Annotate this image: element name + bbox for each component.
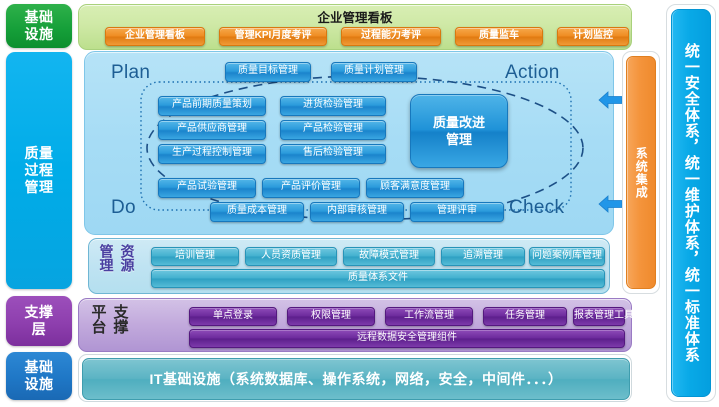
it-infrastructure-bar[interactable]: IT基础设施（系统数据库、操作系统，网络，安全，中间件．．．） xyxy=(82,358,630,400)
unified-systems-label: 统一安全体系，统一维护体系，统一标准体系 xyxy=(683,43,699,363)
unified-systems-bar[interactable]: 统一安全体系，统一维护体系，统一标准体系 xyxy=(671,9,711,397)
pdca-button-11[interactable]: 顾客满意度管理 xyxy=(366,178,464,198)
integration-arrow-bottom-icon xyxy=(597,194,623,214)
pdca-button-4[interactable]: 产品供应商管理 xyxy=(158,120,266,140)
sidebar-item-support-layer[interactable]: 支撑 层 xyxy=(6,296,72,346)
sidebar-label-line2: 设施 xyxy=(25,26,54,43)
support-label-col2: 平台 xyxy=(88,304,109,346)
board-button-3[interactable]: 过程能力考评 xyxy=(341,27,441,46)
pdca-button-2[interactable]: 质量计划管理 xyxy=(331,62,417,82)
pdca-button-7[interactable]: 产品检验管理 xyxy=(280,120,386,140)
support-platform-label: 支撑 平台 xyxy=(86,304,132,346)
board-button-1[interactable]: 企业管理看板 xyxy=(105,27,205,46)
pdca-label-check: Check xyxy=(509,197,564,219)
resource-button-3[interactable]: 故障模式管理 xyxy=(343,247,435,266)
sidebar-label-line1: 支撑 xyxy=(25,304,54,321)
quality-improvement-button[interactable]: 质量改进 管理 xyxy=(410,94,508,168)
system-integration-bar[interactable]: 系统集成 xyxy=(626,56,656,289)
support-button-5[interactable]: 报表管理工具 xyxy=(573,307,625,326)
board-button-2[interactable]: 管理KPI月度考评 xyxy=(219,27,327,46)
architecture-diagram: 基础 设施 质量 过程 管理 支撑 层 基础 设施 企业管理看板 企业管理看板管… xyxy=(0,0,719,407)
pdca-button-1[interactable]: 质量目标管理 xyxy=(225,62,311,82)
board-button-4[interactable]: 质量监车 xyxy=(455,27,543,46)
resource-management-panel: 资源 管理 培训管理人员资质管理故障模式管理追溯管理问题案例库管理质量体系文件 xyxy=(88,238,610,294)
pdca-button-8[interactable]: 售后检验管理 xyxy=(280,144,386,164)
pdca-button-5[interactable]: 生产过程控制管理 xyxy=(158,144,266,164)
pdca-button-14[interactable]: 管理评审 xyxy=(410,202,504,222)
resource-label-col2: 管理 xyxy=(97,244,117,286)
pdca-button-10[interactable]: 产品评价管理 xyxy=(262,178,360,198)
pdca-button-13[interactable]: 内部审核管理 xyxy=(310,202,404,222)
support-button-3[interactable]: 工作流管理 xyxy=(385,307,473,326)
sidebar-label-line2: 层 xyxy=(25,321,54,338)
pdca-button-9[interactable]: 产品试验管理 xyxy=(158,178,256,198)
support-platform-panel: 支撑 平台 单点登录权限管理工作流管理任务管理报表管理工具远程数据安全管理组件 xyxy=(78,298,632,352)
pdca-label-do: Do xyxy=(111,197,136,219)
sidebar-label-line2: 设施 xyxy=(25,376,54,393)
pdca-label-plan: Plan xyxy=(111,62,150,84)
pdca-panel: Plan Action Do Check 质量目标管理质量计划管理产品前期质量策… xyxy=(84,51,614,235)
support-button-1[interactable]: 单点登录 xyxy=(189,307,277,326)
it-infrastructure-panel: IT基础设施（系统数据库、操作系统，网络，安全，中间件．．．） xyxy=(78,354,632,402)
resource-label-col1: 资源 xyxy=(118,244,138,286)
support-button-2[interactable]: 权限管理 xyxy=(287,307,375,326)
sidebar-label-line1: 基础 xyxy=(25,9,54,26)
improve-label-line1: 质量改进 xyxy=(433,114,485,131)
pdca-button-6[interactable]: 进货检验管理 xyxy=(280,96,386,116)
enterprise-board-panel: 企业管理看板 企业管理看板管理KPI月度考评过程能力考评质量监车计划监控 xyxy=(78,4,632,50)
system-integration-label: 系统集成 xyxy=(635,147,648,199)
support-full-bar-1[interactable]: 远程数据安全管理组件 xyxy=(189,329,625,348)
support-button-4[interactable]: 任务管理 xyxy=(483,307,567,326)
pdca-label-action: Action xyxy=(505,62,560,84)
unified-systems-panel: 统一安全体系，统一维护体系，统一标准体系 xyxy=(666,4,716,402)
board-button-5[interactable]: 计划监控 xyxy=(557,27,629,46)
resource-full-bar-1[interactable]: 质量体系文件 xyxy=(151,269,605,288)
resource-button-5[interactable]: 问题案例库管理 xyxy=(529,247,605,266)
board-title: 企业管理看板 xyxy=(79,7,631,26)
pdca-button-3[interactable]: 产品前期质量策划 xyxy=(158,96,266,116)
resource-button-2[interactable]: 人员资质管理 xyxy=(245,247,337,266)
resource-management-label: 资源 管理 xyxy=(95,244,139,286)
sidebar-label-line1: 基础 xyxy=(25,359,54,376)
sidebar-label-line3: 管理 xyxy=(25,179,54,196)
sidebar-label-line1: 质量 xyxy=(25,145,54,162)
system-integration-panel: 系统集成 xyxy=(622,51,660,294)
sidebar-item-infrastructure-top[interactable]: 基础 设施 xyxy=(6,4,72,48)
sidebar-item-infrastructure-bottom[interactable]: 基础 设施 xyxy=(6,352,72,400)
pdca-button-12[interactable]: 质量成本管理 xyxy=(210,202,304,222)
sidebar-label-line2: 过程 xyxy=(25,162,54,179)
sidebar-item-quality-process[interactable]: 质量 过程 管理 xyxy=(6,52,72,289)
support-label-col1: 支撑 xyxy=(110,304,131,346)
resource-button-4[interactable]: 追溯管理 xyxy=(441,247,525,266)
resource-button-1[interactable]: 培训管理 xyxy=(151,247,239,266)
integration-arrow-top-icon xyxy=(597,90,623,110)
improve-label-line2: 管理 xyxy=(433,131,485,148)
